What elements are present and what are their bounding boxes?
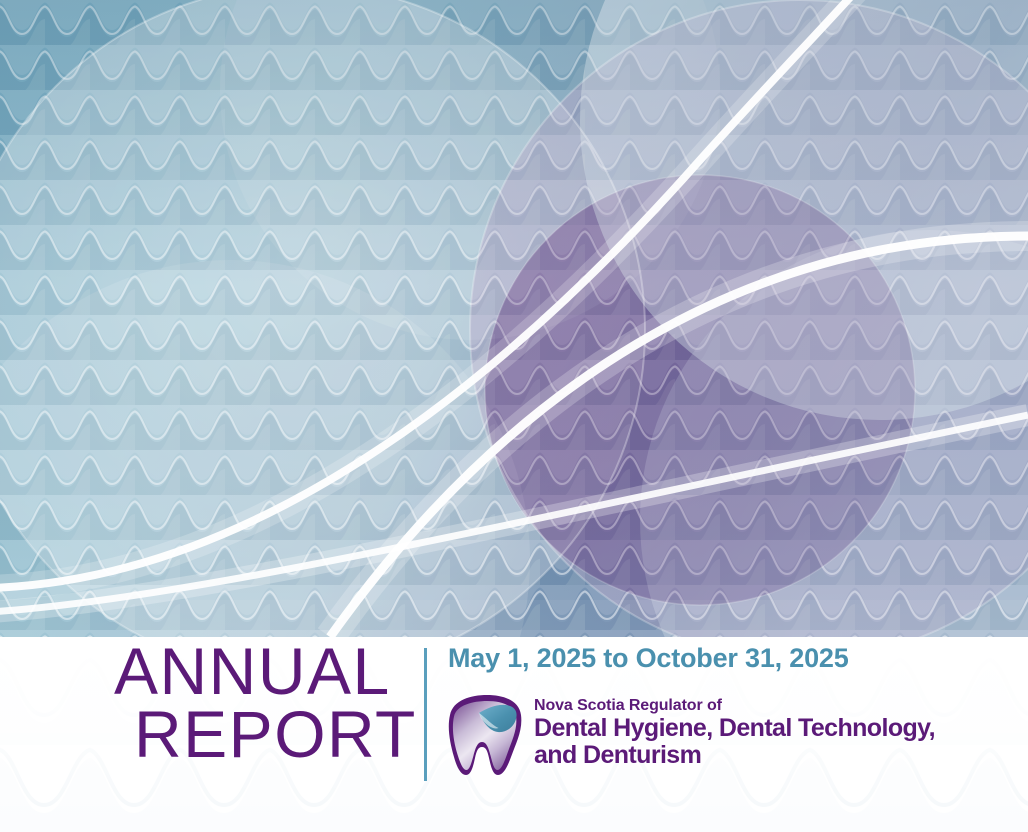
org-name-line-2: and Denturism [534, 742, 935, 769]
organization-lockup: Nova Scotia Regulator of Dental Hygiene,… [448, 691, 1008, 777]
organization-name: Nova Scotia Regulator of Dental Hygiene,… [534, 691, 935, 769]
cover-meta-block: May 1, 2025 to October 31, 2025 [448, 637, 1008, 777]
org-lead-in: Nova Scotia Regulator of [534, 696, 935, 715]
annual-report-cover: ANNUAL REPORT May 1, 2025 to October 31,… [0, 0, 1028, 832]
org-name-line-1: Dental Hygiene, Dental Technology, [534, 715, 935, 742]
title-line-annual: ANNUAL [112, 640, 412, 703]
hero-abstract-graphic [0, 0, 1028, 637]
report-date-range: May 1, 2025 to October 31, 2025 [448, 643, 1008, 673]
cover-footer: ANNUAL REPORT May 1, 2025 to October 31,… [0, 637, 1028, 832]
report-title: ANNUAL REPORT [112, 640, 412, 766]
tooth-logo-icon [448, 691, 526, 777]
vertical-divider [424, 648, 427, 781]
title-line-report: REPORT [112, 703, 412, 766]
hero-artwork [0, 0, 1028, 637]
